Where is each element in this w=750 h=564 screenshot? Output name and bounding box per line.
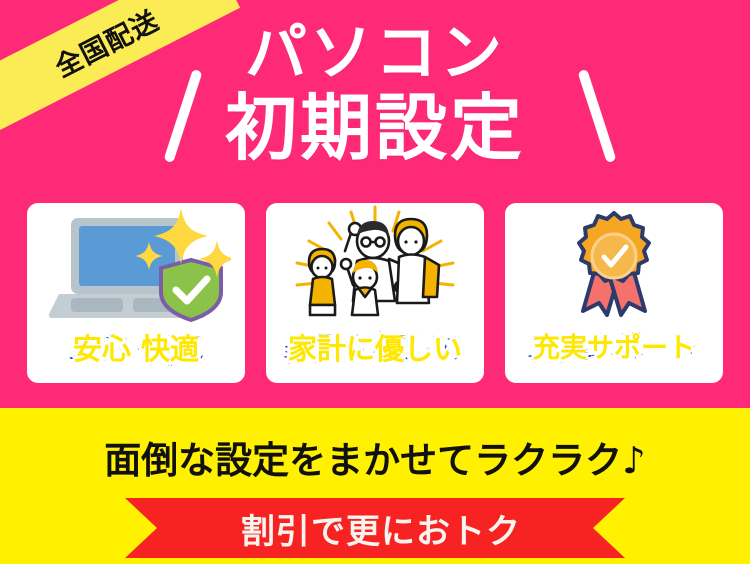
feature-card-kakei-ni-yasashii[interactable]: 家計に優しい xyxy=(266,203,484,383)
feature-card-label-2: 家計に優しい xyxy=(288,326,462,368)
bottom-panel: 面倒な設定をまかせてラクラク♪ 割引で更におトク xyxy=(0,408,750,564)
headline-line-2: 初期設定 xyxy=(0,92,750,164)
laptop-shield-sparkle-icon xyxy=(27,203,245,328)
discount-ribbon-body: 割引で更におトク xyxy=(125,498,625,558)
feature-card-label-1: 安心 快適 xyxy=(73,326,199,368)
discount-ribbon[interactable]: 割引で更におトク xyxy=(125,498,625,558)
feature-card-list: 安心 快適 xyxy=(0,203,750,385)
discount-ribbon-label: 割引で更におトク xyxy=(241,504,521,553)
feature-card-anshin-kaiteki[interactable]: 安心 快適 xyxy=(27,203,245,383)
happy-family-cheering-icon xyxy=(266,203,484,328)
tagline: 面倒な設定をまかせてラクラク♪ xyxy=(0,430,750,484)
promo-banner: 全国配送 パソコン 初期設定 xyxy=(0,0,750,564)
award-rosette-check-icon xyxy=(505,203,723,328)
feature-card-label-3: 充実サポート xyxy=(533,326,695,365)
feature-card-jujitsu-support[interactable]: 充実サポート xyxy=(505,203,723,383)
